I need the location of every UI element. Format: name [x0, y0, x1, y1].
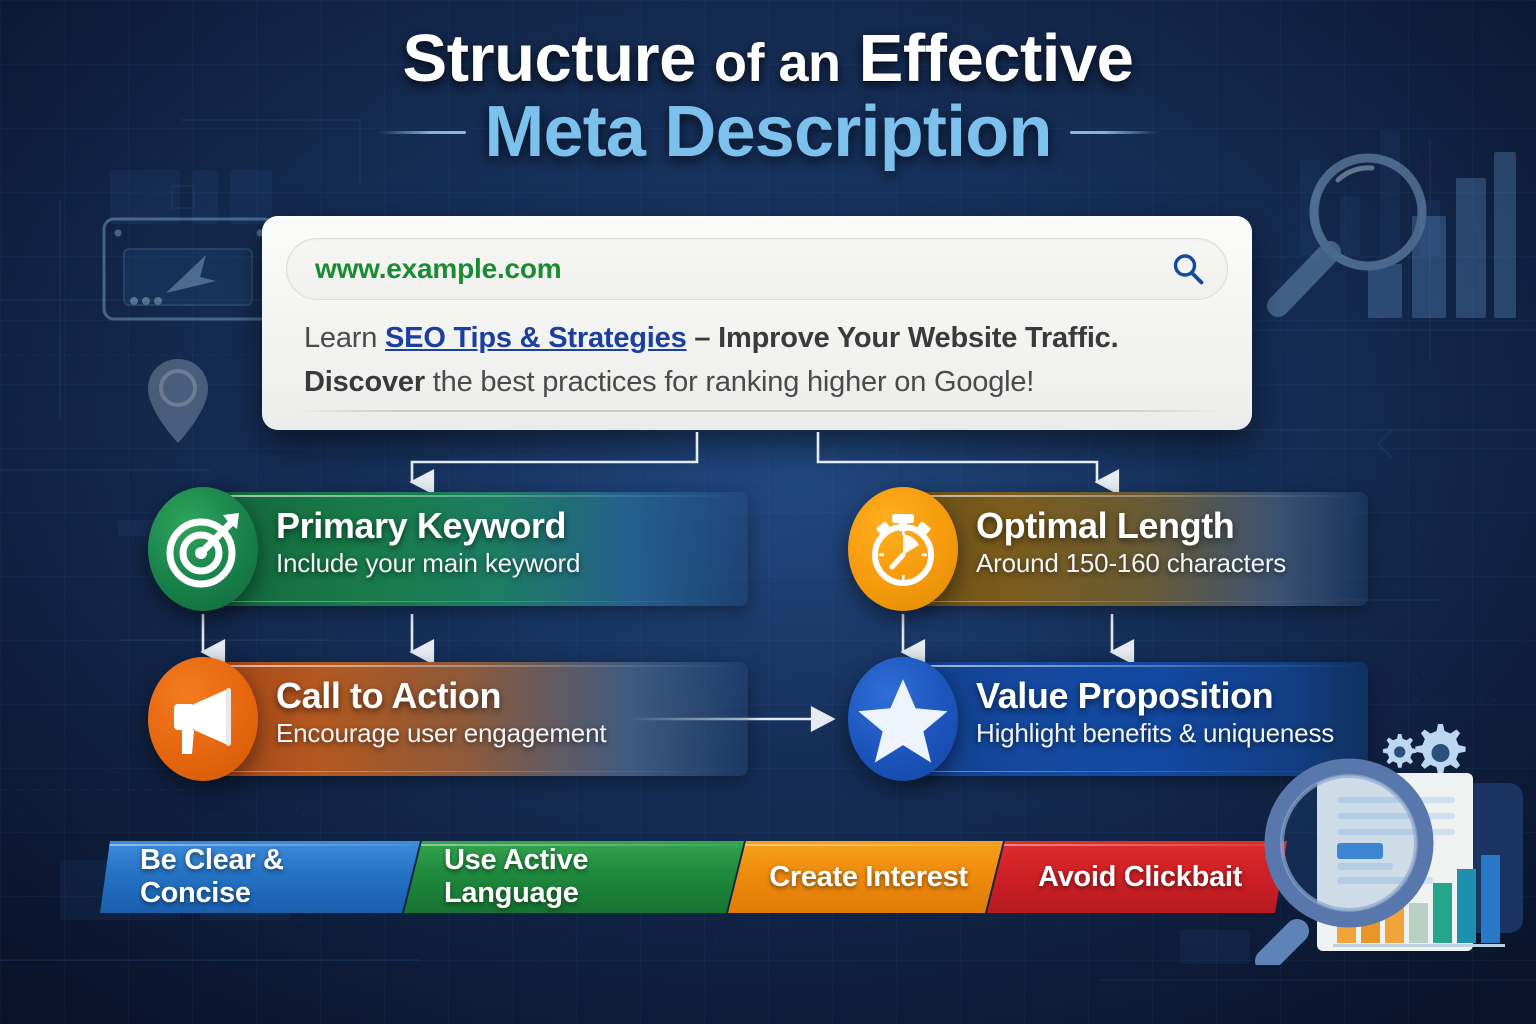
card-subtitle: Around 150-160 characters [976, 548, 1286, 579]
title-line-2: Meta Description [484, 96, 1051, 169]
serp-preview-card: www.example.com Learn SEO Tips & Strateg… [262, 216, 1252, 430]
card-primary-keyword[interactable]: Primary Keyword Include your main keywor… [148, 492, 748, 606]
serp-description: Learn SEO Tips & Strategies – Improve Yo… [304, 316, 1209, 404]
document-bar-chart-icon [1245, 735, 1536, 965]
serp-desc-lead: Learn [304, 322, 385, 354]
ribbon-label: Create Interest [769, 861, 968, 894]
serp-desc-tail: the best practices for ranking higher on… [425, 366, 1034, 398]
title-word-structure: Structure [403, 21, 696, 96]
card-title: Primary Keyword [276, 506, 580, 546]
url-search-bar[interactable]: www.example.com [286, 238, 1228, 300]
tips-ribbon: Be Clear & Concise Use Active Language C… [100, 841, 1271, 913]
card-optimal-length[interactable]: Optimal Length Around 150-160 characters [848, 492, 1368, 606]
search-icon[interactable] [1171, 252, 1205, 286]
serp-divider [294, 410, 1220, 412]
card-title: Optimal Length [976, 506, 1286, 546]
ribbon-item-avoid-clickbait[interactable]: Avoid Clickbait [987, 841, 1287, 913]
ribbon-label: Use Active Language [444, 844, 710, 910]
title-word-effective: Effective [859, 21, 1134, 96]
ribbon-label: Be Clear & Concise [140, 844, 386, 910]
serp-desc-mid: – Improve Your Website Traffic. [687, 322, 1119, 354]
target-icon [148, 487, 258, 611]
serp-desc-discover: Discover [304, 366, 425, 398]
card-title: Call to Action [276, 676, 606, 716]
megaphone-icon [148, 657, 258, 781]
card-text: Primary Keyword Include your main keywor… [276, 506, 580, 579]
page-title: Structure of an Effective Meta Descripti… [0, 24, 1536, 169]
star-icon [848, 657, 958, 781]
card-text: Optimal Length Around 150-160 characters [976, 506, 1286, 579]
ribbon-item-use-active-language[interactable]: Use Active Language [404, 841, 744, 913]
ribbon-item-create-interest[interactable]: Create Interest [728, 841, 1003, 913]
infographic-canvas: Structure of an Effective Meta Descripti… [0, 0, 1536, 1024]
card-text: Call to Action Encourage user engagement [276, 676, 606, 749]
card-call-to-action[interactable]: Call to Action Encourage user engagement [148, 662, 748, 776]
ribbon-label: Avoid Clickbait [1038, 861, 1242, 894]
title-rule-left [378, 131, 466, 134]
card-title: Value Proposition [976, 676, 1334, 716]
ribbon-item-be-clear[interactable]: Be Clear & Concise [100, 841, 420, 913]
card-subtitle: Encourage user engagement [276, 718, 606, 749]
stopwatch-icon [848, 487, 958, 611]
title-word-ofan: of an [714, 33, 841, 93]
card-subtitle: Include your main keyword [276, 548, 580, 579]
serp-description-link[interactable]: SEO Tips & Strategies [385, 322, 686, 354]
url-text: www.example.com [315, 253, 562, 285]
title-line-1: Structure of an Effective [0, 24, 1536, 94]
title-rule-right [1070, 131, 1158, 134]
